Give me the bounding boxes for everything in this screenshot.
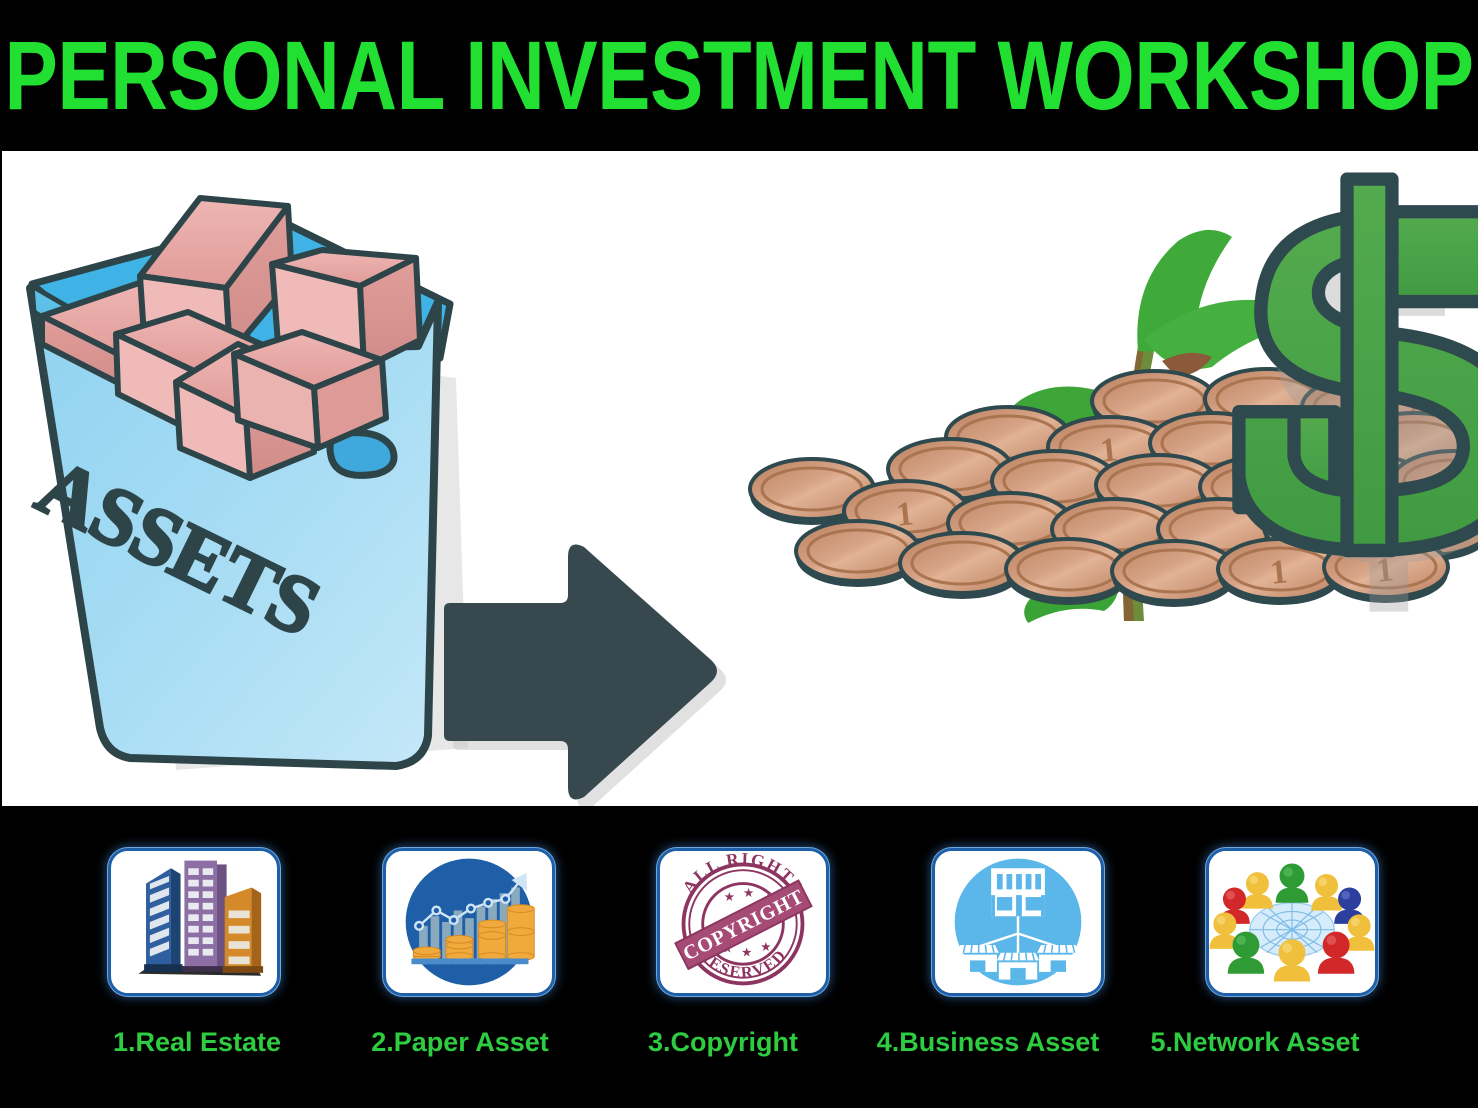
svg-text:★: ★	[741, 946, 752, 960]
asset-labels-row: 1.Real Estate 2.Paper Asset 3.Copyright …	[0, 1024, 1478, 1072]
asset-label-copyright: 3.Copyright	[608, 1024, 838, 1060]
franchise-network-icon	[935, 851, 1101, 993]
asset-tile-network-asset[interactable]	[1206, 848, 1378, 996]
copyright-stamp-icon: ALL RIGHTS RESERVED ★★★ ★★★ COPYRIGHT	[660, 851, 826, 993]
title-band: PERSONAL INVESTMENT WORKSHOP	[0, 0, 1478, 151]
asset-tiles-row: ALL RIGHTS RESERVED ★★★ ★★★ COPYRIGHT	[108, 848, 1378, 1000]
svg-text:★: ★	[760, 940, 771, 954]
asset-tile-copyright[interactable]: ALL RIGHTS RESERVED ★★★ ★★★ COPYRIGHT	[657, 848, 829, 996]
right-arrow-icon	[442, 531, 732, 806]
hero-illustration-panel: ASSETS	[2, 151, 1478, 806]
asset-tile-real-estate[interactable]	[108, 848, 280, 996]
asset-label-real-estate: 1.Real Estate	[82, 1024, 312, 1060]
asset-label-business-asset: 4.Business Asset	[868, 1024, 1108, 1060]
growth-chart-coins-icon	[386, 851, 552, 993]
svg-text:★: ★	[724, 890, 735, 904]
asset-classes-strip: ALL RIGHTS RESERVED ★★★ ★★★ COPYRIGHT	[0, 806, 1478, 1108]
page-title: PERSONAL INVESTMENT WORKSHOP	[4, 25, 1473, 125]
office-buildings-icon	[111, 851, 277, 993]
money-growth-illustration: 1 1 1 1 1	[692, 151, 1478, 806]
asset-label-paper-asset: 2.Paper Asset	[345, 1024, 575, 1060]
people-network-icon	[1209, 851, 1375, 993]
assets-crate-illustration: ASSETS	[20, 176, 480, 776]
asset-label-network-asset: 5.Network Asset	[1130, 1024, 1380, 1060]
svg-text:★: ★	[743, 886, 754, 900]
asset-tile-business-asset[interactable]	[932, 848, 1104, 996]
slide-root: PERSONAL INVESTMENT WORKSHOP	[0, 0, 1478, 1108]
asset-tile-paper-asset[interactable]	[383, 848, 555, 996]
